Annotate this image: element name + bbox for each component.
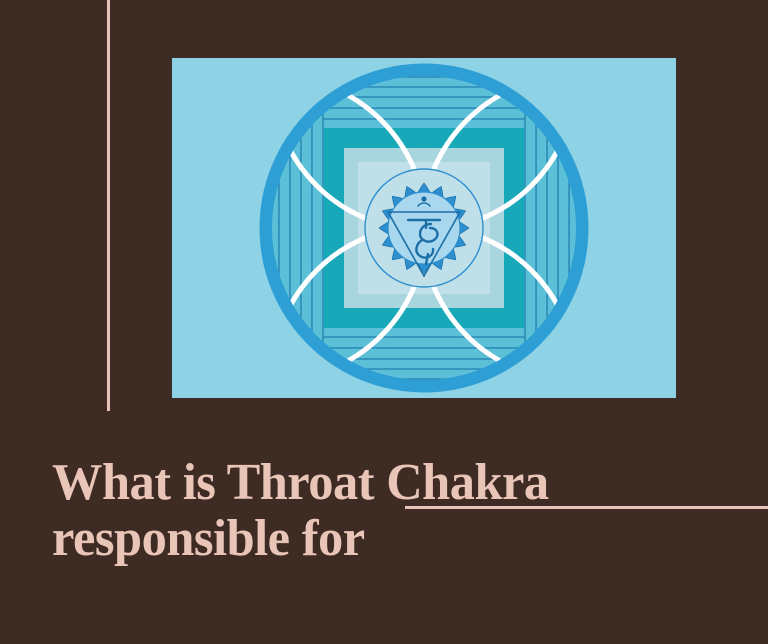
page-title: What is Throat Chakra responsible for	[52, 455, 731, 567]
vishuddha-yantra-svg	[172, 58, 676, 398]
vertical-accent-rule	[107, 0, 110, 411]
lotus-chakra	[365, 169, 483, 287]
poster-canvas: What is Throat Chakra responsible for	[0, 0, 768, 644]
chakra-artwork-image	[172, 58, 676, 398]
